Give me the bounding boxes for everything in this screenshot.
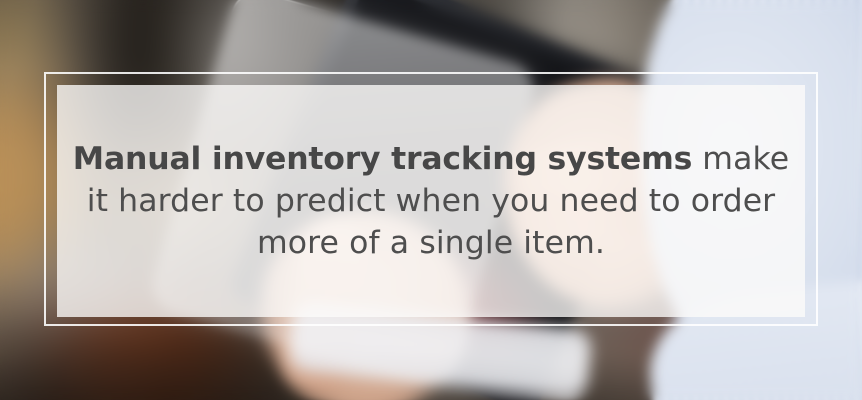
quote-bold-part: Manual inventory tracking systems [73, 141, 692, 177]
quote-panel: Manual inventory tracking systems make i… [57, 85, 805, 317]
inventory-quote-banner: Manual inventory tracking systems make i… [0, 0, 862, 400]
quote-text: Manual inventory tracking systems make i… [57, 138, 805, 264]
